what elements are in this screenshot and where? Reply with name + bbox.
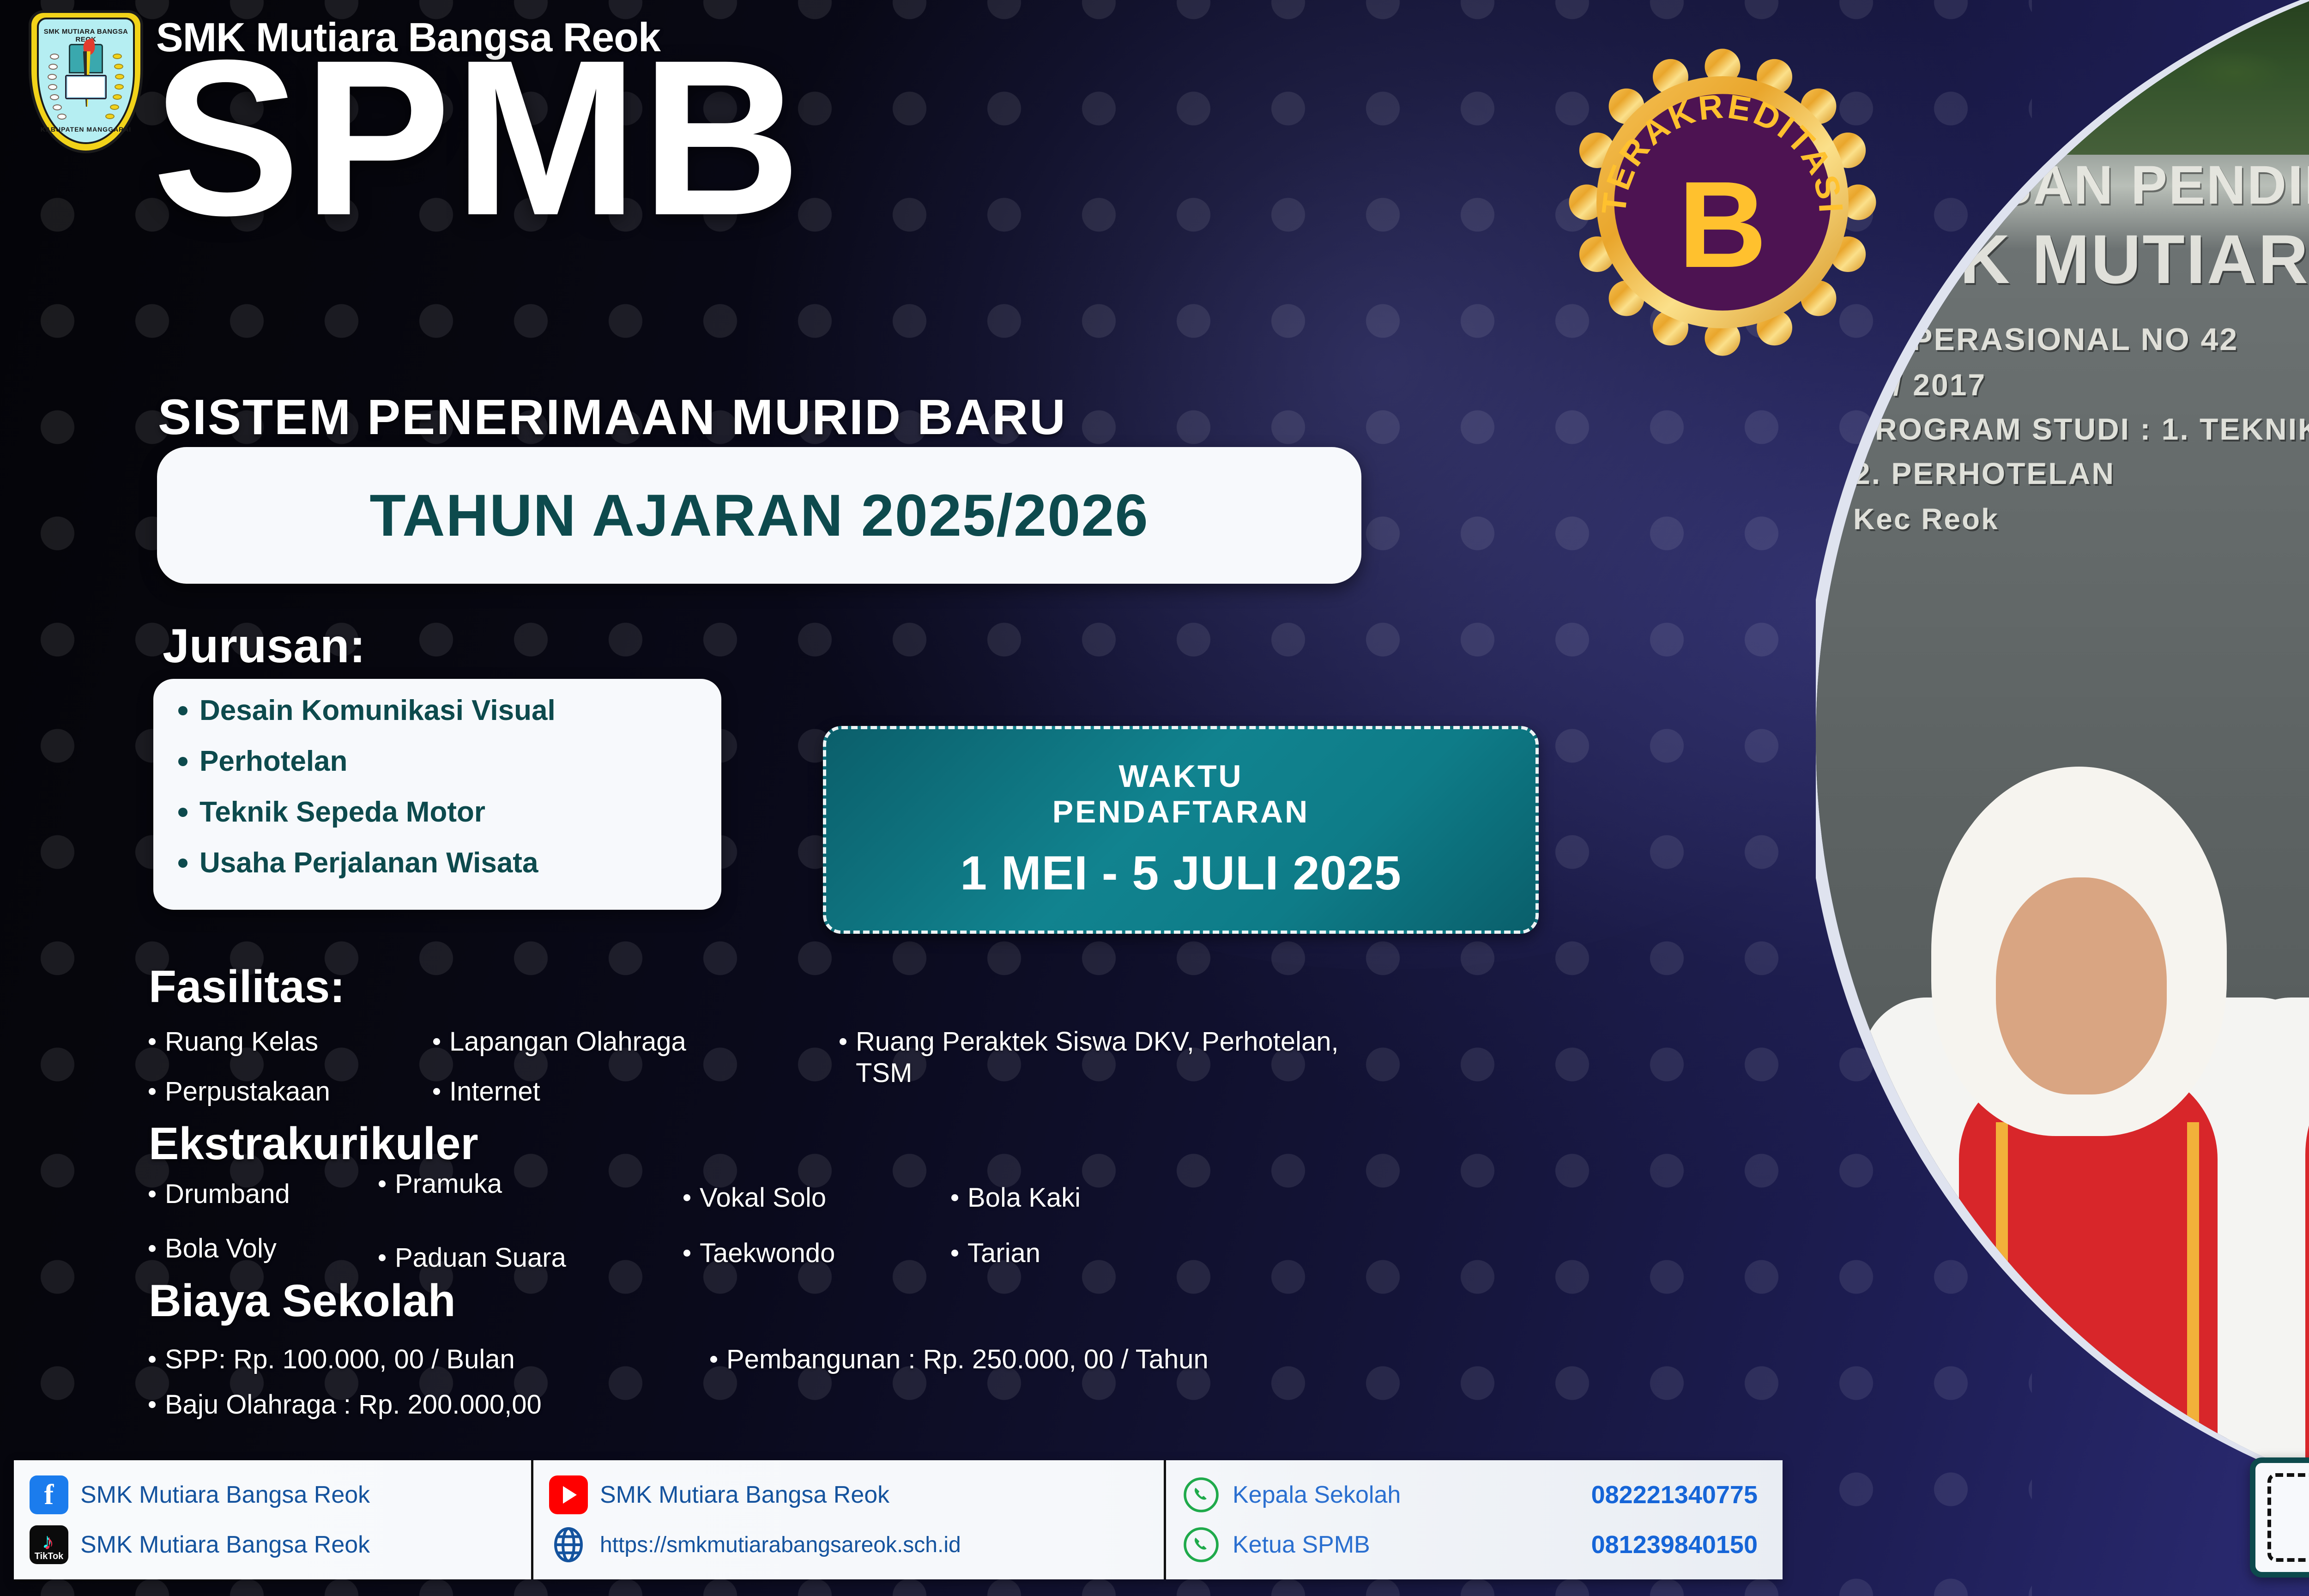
ekstra-item: Drumband — [149, 1179, 290, 1209]
bullet-icon — [683, 1194, 690, 1201]
youtube-row[interactable]: SMK Mutiara Bangsa Reok — [549, 1470, 1148, 1520]
biaya-item: SPP: Rp. 100.000, 00 / Bulan — [149, 1344, 515, 1375]
fasilitas-item: Internet — [433, 1076, 540, 1107]
contact-label-kepala-sekolah: Kepala Sekolah — [1233, 1481, 1431, 1509]
bullet-icon — [178, 858, 187, 868]
fasilitas-label: Perpustakaan — [165, 1076, 330, 1107]
fasilitas-item: Lapangan Olahraga — [433, 1026, 686, 1057]
footer-social-column: f SMK Mutiara Bangsa Reok ♪ TikTok SMK M… — [14, 1460, 531, 1579]
facebook-handle: SMK Mutiara Bangsa Reok — [80, 1481, 370, 1509]
biaya-item: Pembangunan : Rp. 250.000, 00 / Tahun — [710, 1344, 1209, 1375]
jurusan-label: Perhotelan — [199, 747, 347, 776]
youtube-icon — [549, 1475, 588, 1514]
website-url: https://smkmutiarabangsareok.sch.id — [600, 1532, 961, 1558]
logo-cotton-wreath — [50, 54, 62, 123]
jurusan-label: Teknik Sepeda Motor — [199, 798, 485, 827]
bullet-icon — [178, 757, 187, 766]
registration-label-line1: WAKTU — [1052, 759, 1310, 794]
jurusan-item: Teknik Sepeda Motor — [178, 798, 703, 827]
contact-number-kepala-sekolah: 082221340775 — [1576, 1481, 1758, 1509]
content-area: SMK MUTIARA BANGSA REOK KABUPATE — [0, 0, 1940, 1596]
bullet-icon — [433, 1038, 440, 1045]
jurusan-item: Usaha Perjalanan Wisata — [178, 849, 703, 877]
bullet-icon — [149, 1356, 156, 1363]
student-left-vest-stripe-2 — [2187, 1122, 2199, 1524]
accreditation-seal: TERAKREDITASI B — [1552, 41, 1893, 364]
footer-web-column: SMK Mutiara Bangsa Reok https://smkmutia… — [531, 1460, 1164, 1579]
fasilitas-label: Internet — [449, 1076, 540, 1107]
phone-icon — [1182, 1525, 1221, 1564]
jurusan-heading: Jurusan: — [163, 619, 365, 674]
bullet-icon — [149, 1191, 156, 1197]
ekstra-label: Vokal Solo — [700, 1182, 826, 1213]
registration-period-label: WAKTU PENDAFTARAN — [1052, 759, 1310, 829]
bullet-icon — [683, 1250, 690, 1257]
phone-icon — [1182, 1475, 1221, 1514]
fasilitas-label: Ruang Peraktek Siswa DKV, Perhotelan, TS… — [856, 1026, 1384, 1089]
tiktok-handle: SMK Mutiara Bangsa Reok — [80, 1531, 370, 1559]
student-left-face — [1996, 877, 2167, 1094]
ekstra-label: Pramuka — [395, 1168, 502, 1199]
banner-root: YAYASAN PENDIDIKAN RISJONSON SMK MUTIARA… — [0, 0, 2309, 1596]
page-title: SPMB — [152, 31, 804, 244]
student-center-uniform — [2227, 997, 2309, 1524]
bullet-icon — [951, 1250, 958, 1257]
registration-label-line2: PENDAFTARAN — [1052, 794, 1310, 829]
biaya-item: Baju Olahraga : Rp. 200.000,00 — [149, 1389, 542, 1420]
academic-year-label: TAHUN AJARAN 2025/2026 — [369, 482, 1148, 550]
bullet-icon — [710, 1356, 717, 1363]
academic-year-pill: TAHUN AJARAN 2025/2026 — [157, 447, 1361, 584]
jurusan-card: Desain Komunikasi Visual Perhotelan Tekn… — [153, 679, 721, 910]
fasilitas-item: Perpustakaan — [149, 1076, 330, 1107]
jurusan-label: Usaha Perjalanan Wisata — [199, 849, 538, 877]
accreditation-grade: B — [1678, 156, 1767, 293]
jurusan-item: Desain Komunikasi Visual — [178, 696, 703, 725]
bullet-icon — [379, 1254, 386, 1261]
jurusan-item: Perhotelan — [178, 747, 703, 776]
facebook-row[interactable]: f SMK Mutiara Bangsa Reok — [30, 1470, 515, 1520]
student-left-vest-stripe — [1996, 1122, 2008, 1524]
tiktok-icon: ♪ TikTok — [30, 1525, 68, 1564]
bullet-icon — [149, 1401, 156, 1408]
gratis-pendaftaran-badge[interactable]: GRATIS PENDAFTARAN — [2250, 1457, 2309, 1578]
bullet-icon — [178, 706, 187, 715]
logo-wheat-wreath — [110, 54, 122, 123]
biaya-heading: Biaya Sekolah — [149, 1275, 456, 1327]
ekstra-item: Bola Kaki — [951, 1182, 1081, 1213]
contact-row-kepala-sekolah[interactable]: Kepala Sekolah 082221340775 — [1182, 1470, 1758, 1520]
bullet-icon — [433, 1088, 440, 1095]
fasilitas-heading: Fasilitas: — [149, 961, 345, 1013]
ekstra-label: Taekwondo — [700, 1238, 835, 1269]
ekstra-item: Bola Voly — [149, 1233, 277, 1264]
biaya-label: Pembangunan : Rp. 250.000, 00 / Tahun — [726, 1344, 1209, 1375]
bullet-icon — [178, 808, 187, 817]
bullet-icon — [149, 1038, 156, 1045]
ekstra-label: Bola Kaki — [967, 1182, 1081, 1213]
youtube-handle: SMK Mutiara Bangsa Reok — [600, 1481, 889, 1509]
ekstra-label: Tarian — [967, 1238, 1040, 1269]
footer-contact-column: Kepala Sekolah 082221340775 Ketua SPMB 0… — [1164, 1460, 1773, 1579]
jurusan-label: Desain Komunikasi Visual — [199, 696, 556, 725]
school-logo: SMK MUTIARA BANGSA REOK KABUPATE — [29, 10, 143, 153]
bullet-icon — [379, 1180, 386, 1187]
bullet-icon — [149, 1245, 156, 1252]
student-center — [2199, 513, 2309, 1524]
bullet-icon — [840, 1038, 846, 1045]
ekstra-item: Paduan Suara — [379, 1242, 566, 1273]
ekstra-item: Vokal Solo — [683, 1182, 826, 1213]
ekstra-label: Bola Voly — [165, 1233, 277, 1264]
ekstra-label: Paduan Suara — [395, 1242, 566, 1273]
logo-bottom-text: KABUPATEN MANGGARAI — [39, 126, 133, 133]
contact-label-ketua-spmb: Ketua SPMB — [1233, 1531, 1431, 1559]
biaya-label: Baju Olahraga : Rp. 200.000,00 — [165, 1389, 542, 1420]
tiktok-row[interactable]: ♪ TikTok SMK Mutiara Bangsa Reok — [30, 1520, 515, 1570]
contact-row-ketua-spmb[interactable]: Ketua SPMB 081239840150 — [1182, 1520, 1758, 1570]
gratis-dashed-border — [2267, 1473, 2309, 1562]
ekstra-item: Tarian — [951, 1238, 1040, 1269]
contact-number-ketua-spmb: 081239840150 — [1576, 1530, 1758, 1559]
bullet-icon — [951, 1194, 958, 1201]
ekstra-item: Pramuka — [379, 1168, 502, 1199]
globe-icon — [549, 1525, 588, 1564]
ekstrakurikuler-heading: Ekstrakurikuler — [149, 1118, 478, 1170]
website-row[interactable]: https://smkmutiarabangsareok.sch.id — [549, 1520, 1148, 1570]
fasilitas-item: Ruang Kelas — [149, 1026, 318, 1057]
logo-book-icon — [65, 75, 107, 99]
fasilitas-label: Lapangan Olahraga — [449, 1026, 686, 1057]
biaya-label: SPP: Rp. 100.000, 00 / Bulan — [165, 1344, 515, 1375]
facebook-icon: f — [30, 1475, 68, 1514]
ekstra-item: Taekwondo — [683, 1238, 835, 1269]
footer-bar: f SMK Mutiara Bangsa Reok ♪ TikTok SMK M… — [14, 1460, 1783, 1579]
registration-period-box: WAKTU PENDAFTARAN 1 MEI - 5 JULI 2025 — [823, 726, 1539, 934]
page-subtitle: SISTEM PENERIMAAN MURID BARU — [158, 388, 1067, 446]
ekstra-label: Drumband — [165, 1179, 290, 1209]
registration-dates: 1 MEI - 5 JULI 2025 — [960, 846, 1401, 901]
bullet-icon — [149, 1088, 156, 1095]
fasilitas-label: Ruang Kelas — [165, 1026, 318, 1057]
fasilitas-item: Ruang Peraktek Siswa DKV, Perhotelan, TS… — [840, 1026, 1384, 1089]
